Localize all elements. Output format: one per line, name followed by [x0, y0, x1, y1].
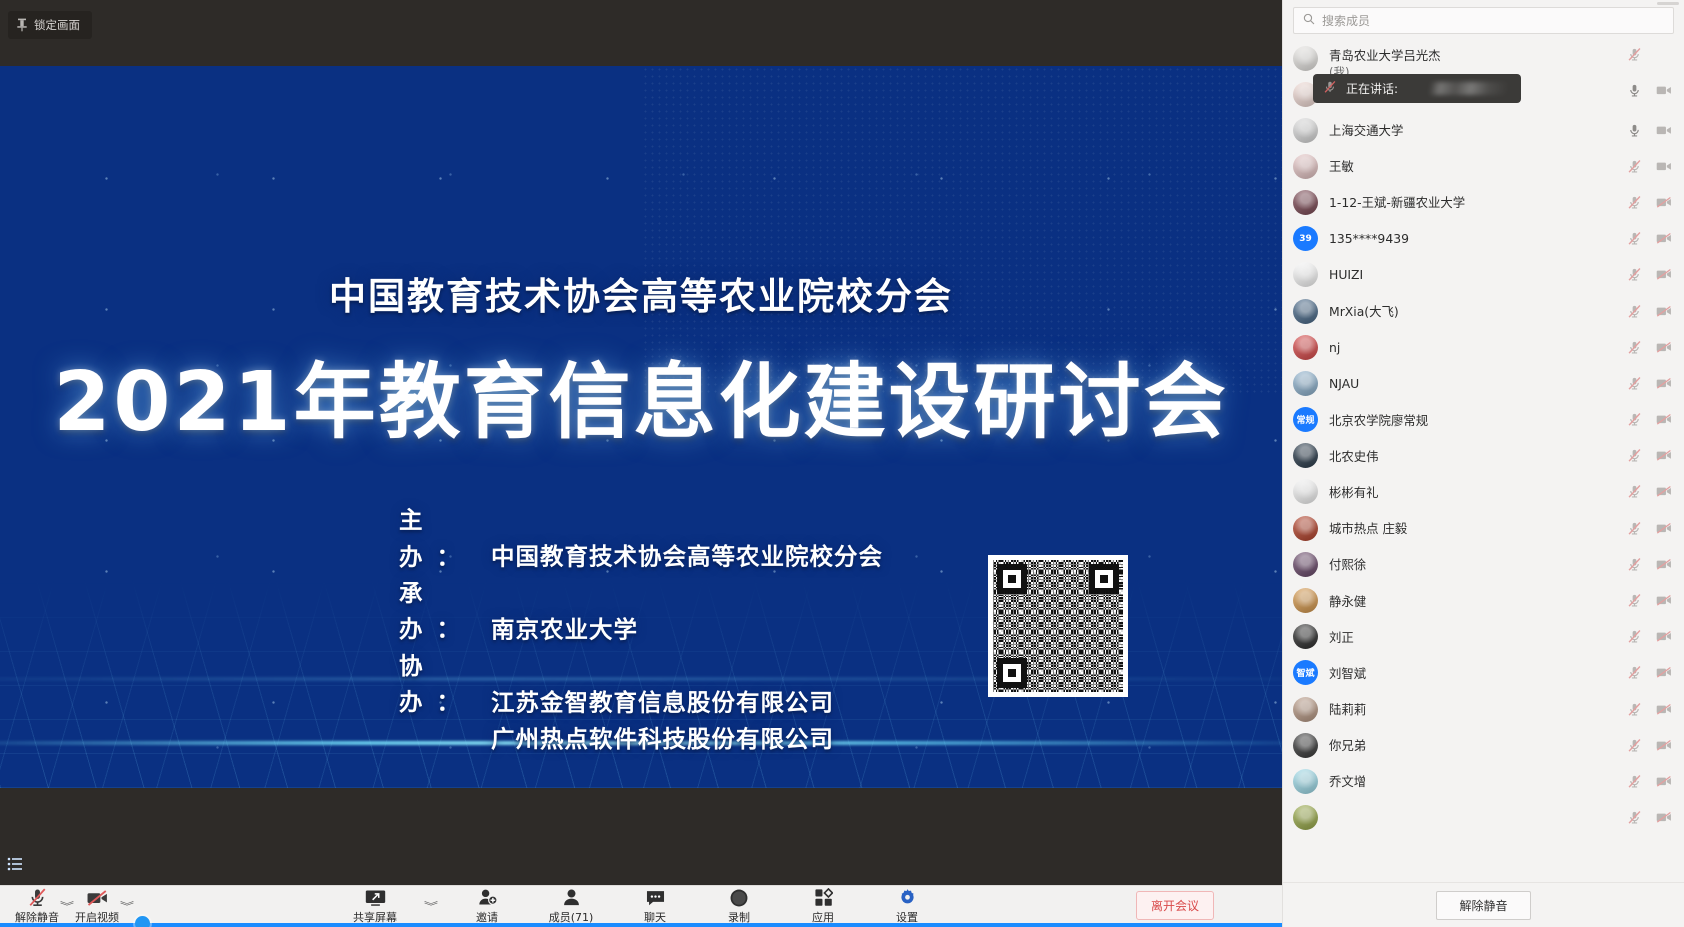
camera-off-icon[interactable]: [1656, 556, 1672, 572]
slide-credit-value: 中国教育技术协会高等农业院校分会: [491, 543, 883, 571]
gear-icon: [898, 887, 917, 908]
pin-icon: [16, 18, 28, 32]
participant-controls: [1616, 375, 1672, 391]
slide-credit-row: 主 办：中国教育技术协会高等农业院校分会: [399, 502, 883, 575]
participant-controls: [1616, 556, 1672, 572]
mic-level-knob[interactable]: [135, 916, 150, 927]
participant-row[interactable]: 静永健: [1283, 582, 1684, 618]
participant-name: 付熙徐: [1329, 555, 1616, 573]
avatar: 39: [1293, 226, 1318, 251]
mic-muted-icon[interactable]: [1626, 448, 1642, 464]
camera-off-icon[interactable]: [1656, 158, 1672, 174]
participant-row[interactable]: 乔文增: [1283, 763, 1684, 799]
camera-icon-placeholder: [1656, 46, 1672, 62]
mic-muted-icon[interactable]: [1626, 810, 1642, 826]
avatar: [1293, 479, 1318, 504]
camera-off-icon[interactable]: [1656, 82, 1672, 98]
participant-row[interactable]: 付熙徐: [1283, 546, 1684, 582]
mic-muted-icon[interactable]: [1626, 46, 1642, 62]
mic-muted-icon[interactable]: [1626, 701, 1642, 717]
mic-muted-icon[interactable]: [1626, 556, 1642, 572]
participant-name: 135****9439: [1329, 231, 1616, 246]
mic-muted-icon[interactable]: [1626, 303, 1642, 319]
participant-row[interactable]: [1283, 800, 1684, 836]
qr-finder-icon: [997, 658, 1027, 688]
participant-row[interactable]: 刘正: [1283, 619, 1684, 655]
participant-name: 城市热点 庄毅: [1329, 519, 1616, 537]
avatar: [1293, 335, 1318, 360]
participant-row[interactable]: NJAU: [1283, 365, 1684, 401]
slide-credit-value: 江苏金智教育信息股份有限公司: [491, 688, 834, 716]
avatar: [1293, 733, 1318, 758]
participant-row[interactable]: 青岛农业大学吕光杰(我): [1283, 40, 1684, 76]
panel-unmute-button[interactable]: 解除静音: [1436, 891, 1530, 920]
participant-controls: [1616, 810, 1672, 826]
participant-name: 王敏: [1329, 157, 1616, 175]
start-video-button[interactable]: 开启视频: [68, 886, 126, 925]
participant-row[interactable]: HUIZI: [1283, 257, 1684, 293]
settings-button[interactable]: 设置: [878, 886, 936, 925]
invite-user-icon: [477, 887, 498, 908]
participant-controls: [1616, 46, 1672, 62]
participant-controls: [1616, 339, 1672, 355]
mic-muted-icon[interactable]: [1626, 412, 1642, 428]
participant-row[interactable]: 39135****9439: [1283, 221, 1684, 257]
avatar: [1293, 118, 1318, 143]
participant-controls: [1616, 122, 1672, 138]
qr-finder-icon: [997, 564, 1027, 594]
participant-controls: [1616, 158, 1672, 174]
slide-organization: 中国教育技术协会高等农业院校分会: [0, 266, 1282, 320]
participant-name: 乔文增: [1329, 772, 1616, 790]
participant-controls: [1616, 629, 1672, 645]
participant-row[interactable]: 城市热点 庄毅: [1283, 510, 1684, 546]
camera-off-icon[interactable]: [1656, 412, 1672, 428]
camera-off-icon[interactable]: [1656, 303, 1672, 319]
participant-name: 彬彬有礼: [1329, 483, 1616, 501]
participant-name: 刘智斌: [1329, 664, 1616, 682]
participant-row[interactable]: 王敏: [1283, 148, 1684, 184]
slide-credit-label: 承 办：: [399, 575, 491, 648]
participant-name: 静永健: [1329, 592, 1616, 610]
participant-row[interactable]: 常规北京农学院廖常规: [1283, 402, 1684, 438]
avatar: [1293, 516, 1318, 541]
camera-off-icon[interactable]: [1656, 665, 1672, 681]
toolbar-center-group: 共享屏幕 ︾ 邀请: [0, 886, 1282, 925]
camera-off-icon[interactable]: [1656, 773, 1672, 789]
lock-screen-label: 锁定画面: [34, 17, 80, 33]
speaking-label: 正在讲话:: [1346, 80, 1398, 97]
participant-name: 1-12-王斌-新疆农业大学: [1329, 193, 1616, 211]
slide-credit-value: 广州热点软件科技股份有限公司: [491, 725, 834, 753]
avatar: [1293, 552, 1318, 577]
participant-controls: [1616, 593, 1672, 609]
share-screen-icon: [364, 887, 387, 908]
avatar: [1293, 624, 1318, 649]
record-button[interactable]: 录制: [710, 886, 768, 925]
camera-off-icon[interactable]: [1656, 267, 1672, 283]
mic-muted-icon[interactable]: [1626, 665, 1642, 681]
share-screen-button[interactable]: 共享屏幕: [346, 886, 404, 925]
speaking-name-blurred: [1427, 82, 1511, 95]
mic-level-slider[interactable]: [0, 923, 1282, 927]
slide-credit-row: 承 办：南京农业大学: [399, 575, 883, 648]
view-list-icon[interactable]: [6, 855, 24, 873]
participant-name: 刘正: [1329, 628, 1616, 646]
camera-off-icon[interactable]: [1656, 339, 1672, 355]
participants-panel: 青岛农业大学吕光杰(我) (主持人) 上海交通大学 王敏: [1282, 0, 1684, 927]
avatar: 常规: [1293, 407, 1318, 432]
mic-muted-icon[interactable]: [1626, 593, 1642, 609]
slide-credit-row: 协 办：江苏金智教育信息股份有限公司: [399, 648, 883, 721]
participant-controls: [1616, 303, 1672, 319]
stage-top-bar: 锁定画面: [0, 0, 1282, 66]
camera-off-icon[interactable]: [1656, 810, 1672, 826]
participant-row[interactable]: 北农史伟: [1283, 438, 1684, 474]
camera-off-icon[interactable]: [1656, 375, 1672, 391]
camera-off-icon[interactable]: [1656, 231, 1672, 247]
qr-finder-icon: [1089, 564, 1119, 594]
avatar: [1293, 262, 1318, 287]
chat-button[interactable]: 聊天: [626, 886, 684, 925]
search-box[interactable]: [1293, 7, 1674, 34]
slide-credit-value: 南京农业大学: [491, 615, 638, 643]
shared-screen-area[interactable]: 中国教育技术协会高等农业院校分会 2021年教育信息化建设研讨会 主 办：中国教…: [0, 66, 1282, 885]
mic-muted-icon[interactable]: [1626, 375, 1642, 391]
avatar: [1293, 299, 1318, 324]
mic-muted-icon[interactable]: [1626, 231, 1642, 247]
participant-list[interactable]: 青岛农业大学吕光杰(我) (主持人) 上海交通大学 王敏: [1283, 40, 1684, 882]
apps-button[interactable]: 应用: [794, 886, 852, 925]
participant-controls: [1616, 267, 1672, 283]
video-off-icon: [86, 887, 109, 908]
slide-credit-label: 主 办：: [399, 502, 491, 575]
slide-credit-row: 广州热点软件科技股份有限公司: [399, 721, 883, 757]
participant-name: NJAU: [1329, 376, 1616, 391]
participant-name: HUIZI: [1329, 267, 1616, 282]
camera-off-icon[interactable]: [1656, 448, 1672, 464]
camera-off-icon[interactable]: [1656, 629, 1672, 645]
participant-row[interactable]: 智斌刘智斌: [1283, 655, 1684, 691]
participant-controls: [1616, 194, 1672, 210]
unmute-button[interactable]: 解除静音: [8, 886, 66, 925]
participant-name: 上海交通大学: [1329, 121, 1616, 139]
participant-row[interactable]: 上海交通大学: [1283, 112, 1684, 148]
camera-off-icon[interactable]: [1656, 122, 1672, 138]
participant-controls: [1616, 412, 1672, 428]
participants-icon: [561, 887, 582, 908]
mic-muted-icon[interactable]: [1626, 339, 1642, 355]
participant-row[interactable]: 彬彬有礼: [1283, 474, 1684, 510]
mic-muted-icon[interactable]: [1626, 520, 1642, 536]
toolbar-left-group: 解除静音 ︾ 开启视频 ︾: [0, 886, 128, 925]
participant-row[interactable]: 陆莉莉: [1283, 691, 1684, 727]
panel-drag-handle[interactable]: [1657, 2, 1679, 5]
mic-muted-icon[interactable]: [1626, 629, 1642, 645]
participant-name: 北农史伟: [1329, 447, 1616, 465]
avatar: [1293, 697, 1318, 722]
share-options-caret-icon[interactable]: ︾: [424, 898, 438, 913]
camera-off-icon[interactable]: [1656, 194, 1672, 210]
record-circle-icon: [729, 887, 749, 908]
camera-off-icon[interactable]: [1656, 520, 1672, 536]
participant-name: 陆莉莉: [1329, 700, 1616, 718]
avatar: [1293, 805, 1318, 830]
camera-off-icon[interactable]: [1656, 737, 1672, 753]
mic-muted-icon[interactable]: [1626, 194, 1642, 210]
participant-controls: [1616, 448, 1672, 464]
camera-off-icon[interactable]: [1656, 593, 1672, 609]
mic-options-caret-icon[interactable]: ︾: [60, 898, 74, 913]
meeting-toolbar: 解除静音 ︾ 开启视频 ︾: [0, 885, 1282, 927]
participant-row[interactable]: nj: [1283, 329, 1684, 365]
participant-name: 北京农学院廖常规: [1329, 411, 1616, 429]
participant-controls: [1616, 231, 1672, 247]
mic-muted-icon[interactable]: [1626, 737, 1642, 753]
avatar: [1293, 588, 1318, 613]
stage-column: 锁定画面 中国教育技术协会高等农业院校分会 2021年教育信息化建设研讨会 主 …: [0, 0, 1282, 927]
speaking-tooltip: 正在讲话:: [1313, 74, 1521, 103]
participant-controls: [1616, 773, 1672, 789]
camera-off-icon[interactable]: [1656, 484, 1672, 500]
search-icon: [1303, 12, 1315, 30]
participant-row[interactable]: MrXia(大飞): [1283, 293, 1684, 329]
participant-controls: [1616, 82, 1672, 98]
leave-meeting-button[interactable]: 离开会议: [1136, 891, 1214, 920]
participant-controls: [1616, 701, 1672, 717]
avatar: [1293, 371, 1318, 396]
search-input[interactable]: [1322, 14, 1664, 28]
avatar: [1293, 443, 1318, 468]
panel-search-wrapper: [1283, 0, 1684, 40]
chat-bubble-icon: [645, 887, 666, 908]
mic-icon[interactable]: [1626, 82, 1642, 98]
apps-grid-icon: [814, 887, 833, 908]
participant-row[interactable]: 1-12-王斌-新疆农业大学: [1283, 184, 1684, 220]
participant-controls: [1616, 665, 1672, 681]
mic-muted-icon[interactable]: [1626, 158, 1642, 174]
presentation-slide: 中国教育技术协会高等农业院校分会 2021年教育信息化建设研讨会 主 办：中国教…: [0, 66, 1282, 788]
mic-muted-icon: [1323, 80, 1337, 97]
panel-footer: 解除静音: [1283, 882, 1684, 927]
qr-code: [988, 555, 1128, 697]
participant-controls: [1616, 520, 1672, 536]
invite-button[interactable]: 邀请: [458, 886, 516, 925]
mic-muted-icon: [27, 887, 48, 908]
avatar: [1293, 154, 1318, 179]
mic-muted-icon[interactable]: [1626, 267, 1642, 283]
camera-off-icon[interactable]: [1656, 701, 1672, 717]
avatar: 智斌: [1293, 660, 1318, 685]
mic-muted-icon[interactable]: [1626, 484, 1642, 500]
participant-controls: [1616, 737, 1672, 753]
lock-screen-button[interactable]: 锁定画面: [8, 11, 92, 39]
slide-credit-label: 协 办：: [399, 648, 491, 721]
avatar: [1293, 769, 1318, 794]
mic-muted-icon[interactable]: [1626, 773, 1642, 789]
participants-button[interactable]: 成员(71): [542, 886, 600, 925]
participant-name: MrXia(大飞): [1329, 302, 1616, 320]
slide-credits: 主 办：中国教育技术协会高等农业院校分会 承 办：南京农业大学 协 办：江苏金智…: [399, 502, 883, 757]
participant-name: 你兄弟: [1329, 736, 1616, 754]
zoom-meeting-window: 锁定画面 中国教育技术协会高等农业院校分会 2021年教育信息化建设研讨会 主 …: [0, 0, 1684, 927]
mic-icon[interactable]: [1626, 122, 1642, 138]
participant-name: nj: [1329, 340, 1616, 355]
video-options-caret-icon[interactable]: ︾: [120, 898, 134, 913]
avatar: [1293, 46, 1318, 71]
slide-title: 2021年教育信息化建设研讨会: [0, 360, 1282, 446]
participant-controls: [1616, 484, 1672, 500]
participant-row[interactable]: 你兄弟: [1283, 727, 1684, 763]
avatar: [1293, 190, 1318, 215]
